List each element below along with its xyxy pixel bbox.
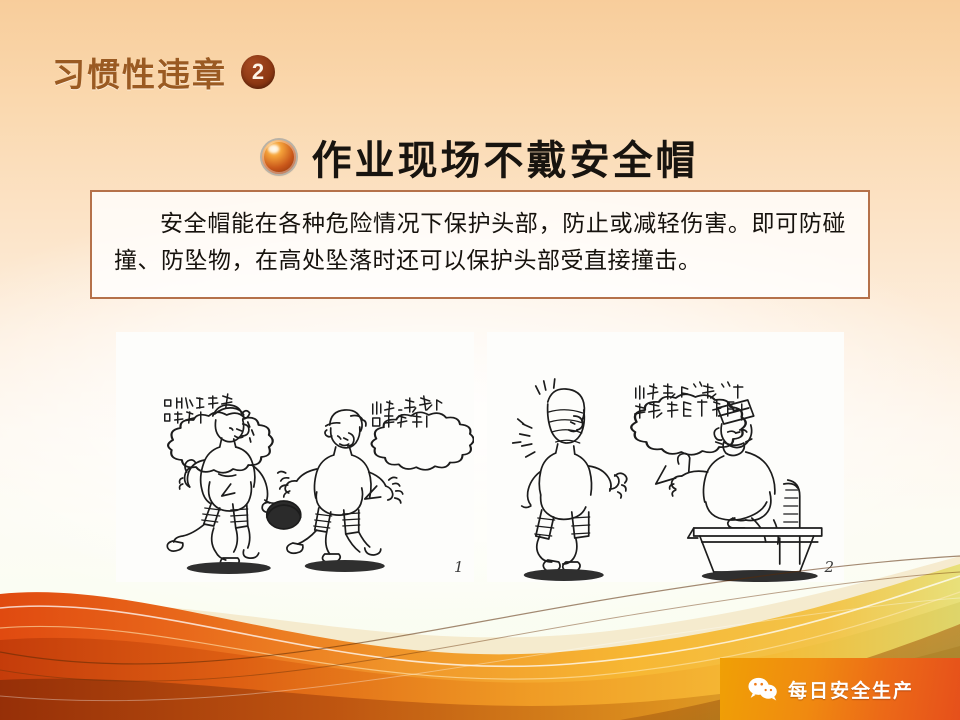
description-textbox: 安全帽能在各种危险情况下保护头部，防止或减轻伤害。即可防碰撞、防坠物，在高处坠落… <box>90 190 870 299</box>
cartoon-illustration-2 <box>487 332 845 582</box>
header-kicker: 习惯性违章 2 <box>52 48 275 96</box>
panel-number-1: 1 <box>454 558 464 576</box>
slide-title-row: 作业现场不戴安全帽 <box>0 128 960 186</box>
panel-number-2: 2 <box>824 558 834 576</box>
kicker-label: 习惯性违章 <box>52 48 227 96</box>
cartoon-illustration-1 <box>116 332 474 582</box>
slide-canvas: 习惯性违章 2 作业现场不戴安全帽 安全帽能在各种危险情况下保护头部，防止或减轻… <box>0 0 960 720</box>
cartoon-panel-1: 1 <box>116 332 474 582</box>
section-number-badge: 2 <box>241 55 275 89</box>
page-title: 作业现场不戴安全帽 <box>312 128 699 186</box>
glossy-orange-sphere-icon <box>262 140 296 174</box>
wechat-icon <box>748 676 778 702</box>
illustration-panels: 1 <box>116 332 844 582</box>
cartoon-panel-2: 2 <box>487 332 845 582</box>
watermark-bar: 每日安全生产 <box>720 658 960 720</box>
watermark-label: 每日安全生产 <box>788 676 914 703</box>
description-paragraph: 安全帽能在各种危险情况下保护头部，防止或减轻伤害。即可防碰撞、防坠物，在高处坠落… <box>114 206 846 281</box>
